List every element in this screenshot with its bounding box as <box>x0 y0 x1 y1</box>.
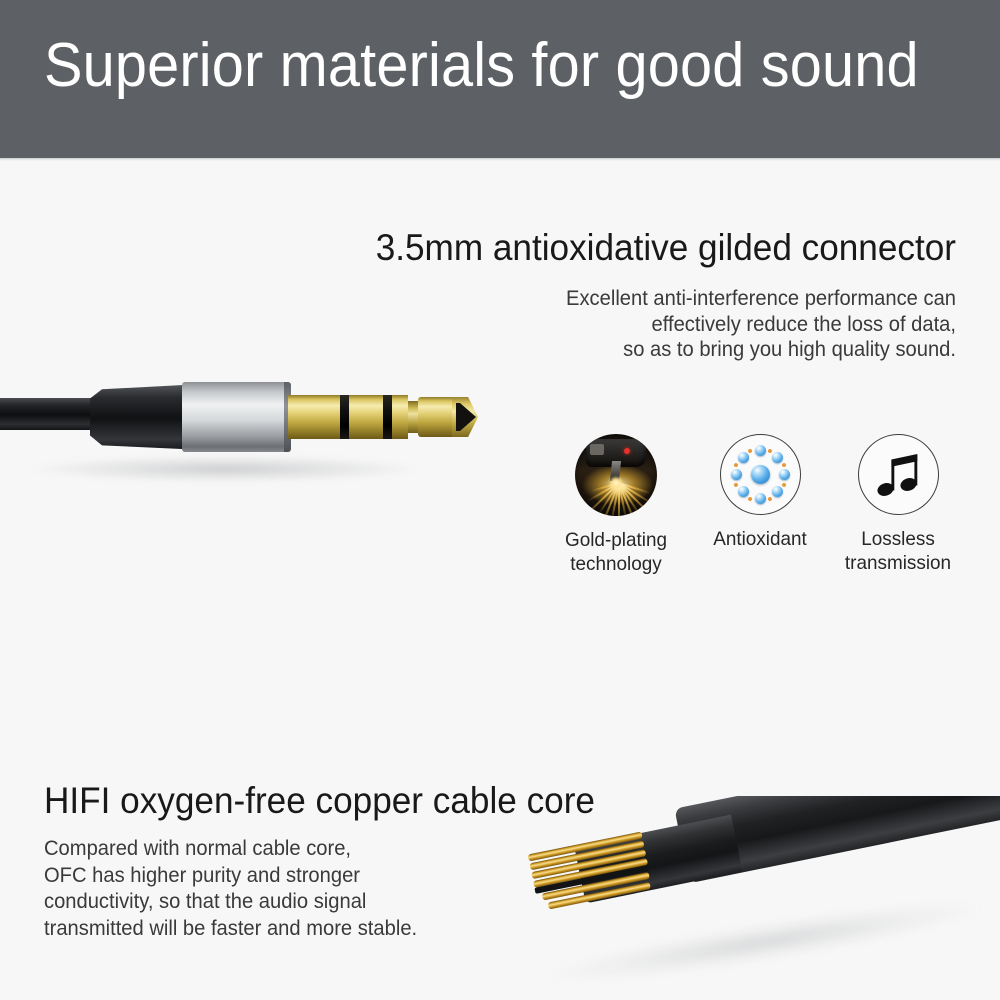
page-title: Superior materials for good sound <box>44 29 919 103</box>
connector-heading: 3.5mm antioxidative gilded connector <box>329 224 956 272</box>
plug-insulator-ring-2 <box>383 395 392 439</box>
feature-lossless-transmission: Lossless transmission <box>828 434 968 575</box>
atom-nucleus <box>751 465 770 484</box>
feature-label-line-2: technology <box>548 552 684 576</box>
connector-body-line-2: effectively reduce the loss of data, <box>322 312 956 338</box>
plug-insulator-ring-1 <box>340 395 349 439</box>
connector-body: Excellent anti-interference performance … <box>322 286 956 363</box>
feature-antioxidant: Antioxidant <box>690 434 830 551</box>
connector-plug-image <box>0 372 500 482</box>
gold-sparks-photo-icon <box>575 434 657 516</box>
feature-label-line-2: transmission <box>830 551 966 575</box>
plug-gold-sleeve <box>288 395 340 439</box>
feature-label-line-1: Antioxidant <box>692 527 828 551</box>
cable-shadow <box>550 891 980 994</box>
feature-icon-row: Gold-plating technology <box>548 434 968 594</box>
atom-diagram <box>721 435 800 514</box>
header-divider <box>0 158 1000 161</box>
feature-label-antioxidant: Antioxidant <box>692 527 828 551</box>
product-feature-page: Superior materials for good sound 3.5mm … <box>0 0 1000 1000</box>
connector-body-line-3: so as to bring you high quality sound. <box>322 337 956 363</box>
header-band: Superior materials for good sound <box>0 0 1000 158</box>
music-note-icon <box>858 434 939 515</box>
feature-label-lossless: Lossless transmission <box>830 527 966 575</box>
connector-body-line-1: Excellent anti-interference performance … <box>322 286 956 312</box>
music-note-glyph <box>859 435 938 514</box>
plug-tip-neck <box>408 401 418 433</box>
atom-molecule-icon <box>720 434 801 515</box>
copper-cable-image <box>520 796 1000 1000</box>
plug-strain-relief <box>90 384 190 450</box>
feature-label-gold-plating: Gold-plating technology <box>548 528 684 576</box>
plug-metal-barrel <box>182 382 290 452</box>
feature-label-line-1: Gold-plating <box>548 528 684 552</box>
plug-shadow <box>30 456 420 482</box>
feature-gold-plating: Gold-plating technology <box>546 434 686 576</box>
connector-text-block: 3.5mm antioxidative gilded connector Exc… <box>296 224 956 363</box>
spark-rays <box>575 434 657 516</box>
plug-gold-ring-segment <box>349 395 383 439</box>
feature-label-line-1: Lossless <box>830 527 966 551</box>
plug-tip-body <box>418 397 456 437</box>
copper-strand-bundle <box>527 830 654 920</box>
plug-gold-tip-segment <box>392 395 408 439</box>
